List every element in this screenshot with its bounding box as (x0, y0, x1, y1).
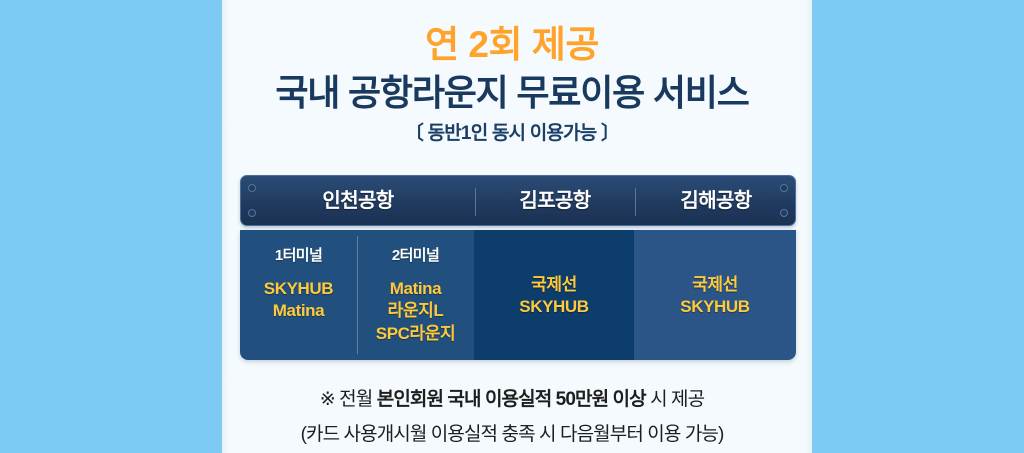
cell-value: 국제선SKYHUB (474, 274, 634, 319)
footnote-prefix: ※ 전월 (320, 389, 377, 410)
footnote-primary: ※ 전월 본인회원 국내 이용실적 50만원 이상 시 제공 (0, 384, 1024, 411)
cell-gimpo: 국제선SKYHUB (474, 230, 634, 360)
cell-value: SKYHUBMatina (240, 278, 357, 323)
promo-banner: 연 2회 제공 국내 공항라운지 무료이용 서비스 〔 동반1인 동시 이용가능… (0, 0, 1024, 453)
terminal-divider (357, 236, 358, 354)
footnote-secondary: (카드 사용개시월 이용실적 충족 시 다음월부터 이용 가능) (0, 419, 1024, 446)
cell-gimhae: 국제선SKYHUB (634, 230, 796, 360)
table-body: 1터미널 SKYHUBMatina 2터미널 Matina라운지LSPC라운지 … (240, 230, 796, 360)
cell-value: 국제선SKYHUB (634, 274, 796, 319)
table-header-bar: 인천공항 김포공항 김해공항 (240, 175, 796, 226)
title-note: 〔 동반1인 동시 이용가능 〕 (0, 118, 1024, 145)
cell-sublabel: 1터미널 (240, 244, 357, 265)
cell-incheon-terminal2: 2터미널 Matina라운지LSPC라운지 (357, 230, 474, 360)
eyebrow-heading: 연 2회 제공 (0, 14, 1024, 68)
cell-value: Matina라운지LSPC라운지 (357, 278, 474, 345)
footnote-suffix: 시 제공 (646, 389, 705, 410)
cell-incheon-terminal1: 1터미널 SKYHUBMatina (240, 230, 357, 360)
column-header-gimpo: 김포공항 (475, 176, 635, 227)
cell-sublabel: 2터미널 (357, 244, 474, 265)
footnote-emphasis: 본인회원 국내 이용실적 50만원 이상 (377, 389, 646, 410)
airport-lounge-table: 인천공항 김포공항 김해공항 1터미널 SKYHUBMatina 2터미널 Ma… (240, 175, 796, 360)
column-header-gimhae: 김해공항 (635, 176, 797, 227)
page-title: 국내 공항라운지 무료이용 서비스 (0, 64, 1024, 116)
column-header-incheon: 인천공항 (241, 176, 475, 227)
